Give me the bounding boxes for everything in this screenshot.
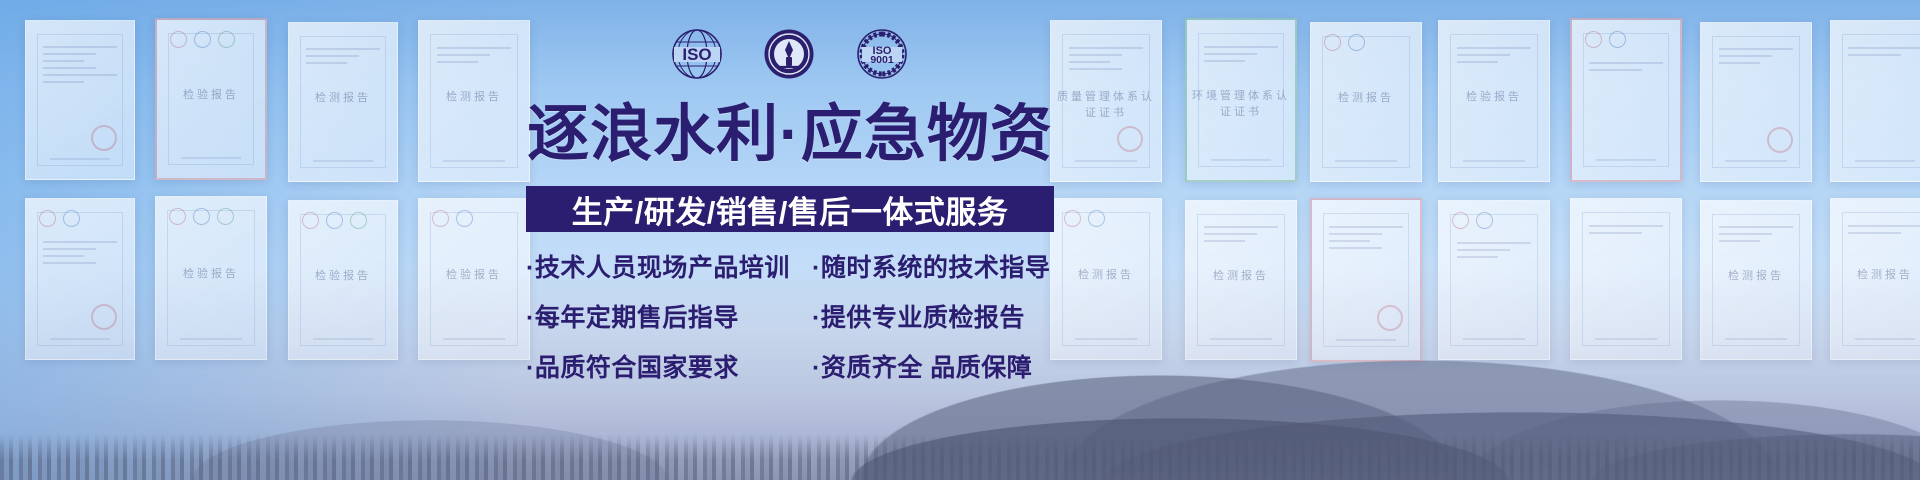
feature-item: ·每年定期售后指导 (526, 298, 798, 334)
certificate-thumbnail (25, 20, 135, 180)
certificate-thumbnail: 检验报告 (155, 18, 267, 180)
service-subtitle-bar: 生产/研发/销售/售后一体式服务 (526, 186, 1054, 232)
service-subtitle-text: 生产/研发/销售/售后一体式服务 (572, 187, 1009, 232)
page-title: 逐浪水利·应急物资 (500, 100, 1080, 170)
feature-item: ·品质符合国家要求 (526, 348, 798, 384)
iso-9001-badge: ISO 9001 (855, 28, 909, 80)
certificate-title: 检验报告 (156, 265, 266, 281)
svg-text:ISO: ISO (682, 45, 711, 64)
feature-item: ·提供专业质检报告 (812, 298, 1062, 334)
certificate-title: 检测报告 (1831, 266, 1920, 282)
certificate-title: 检测报告 (1701, 267, 1811, 283)
promo-banner: 检验报告 检测报告 检测报告 质量管理体系认证证书 环境管理体系认证证书 检测报… (0, 0, 1920, 480)
certificate-title: 检测报告 (289, 89, 397, 105)
svg-text:9001: 9001 (870, 54, 894, 66)
certificate-thumbnail (1830, 20, 1920, 182)
certificate-thumbnail (1570, 18, 1682, 182)
iso-globe-badge: ISO (671, 28, 723, 80)
certificate-thumbnail (1700, 22, 1812, 182)
feature-row: ·每年定期售后指导 ·提供专业质检报告 (516, 298, 1072, 334)
certificate-thumbnail: 检测报告 (1310, 22, 1422, 182)
certification-badges: ISO I (500, 28, 1080, 80)
certificate-thumbnail: 检测报告 (288, 22, 398, 182)
banner-content: ISO I (500, 0, 1080, 480)
certificate-title: 检验报告 (157, 86, 265, 102)
certificate-title: 检验报告 (1439, 88, 1549, 104)
certificate-title: 检测报告 (1311, 89, 1421, 105)
certificate-thumbnail: 检验报告 (1438, 20, 1550, 182)
certificate-title: 环境管理体系认证证书 (1187, 87, 1295, 119)
feature-list: ·技术人员现场产品培训 ·随时系统的技术指导 ·每年定期售后指导 ·提供专业质检… (516, 248, 1072, 398)
feature-item: ·随时系统的技术指导 (812, 248, 1062, 284)
feature-item: ·资质齐全 品质保障 (812, 348, 1062, 384)
feature-row: ·品质符合国家要求 ·资质齐全 品质保障 (516, 348, 1072, 384)
certificate-title: 检测报告 (1186, 267, 1296, 283)
feature-item: ·技术人员现场产品培训 (526, 248, 798, 284)
feature-row: ·技术人员现场产品培训 ·随时系统的技术指导 (516, 248, 1072, 284)
certificate-thumbnail: 环境管理体系认证证书 (1185, 18, 1297, 182)
circular-emblem-badge (763, 28, 815, 80)
certificate-title: 检验报告 (289, 267, 397, 283)
